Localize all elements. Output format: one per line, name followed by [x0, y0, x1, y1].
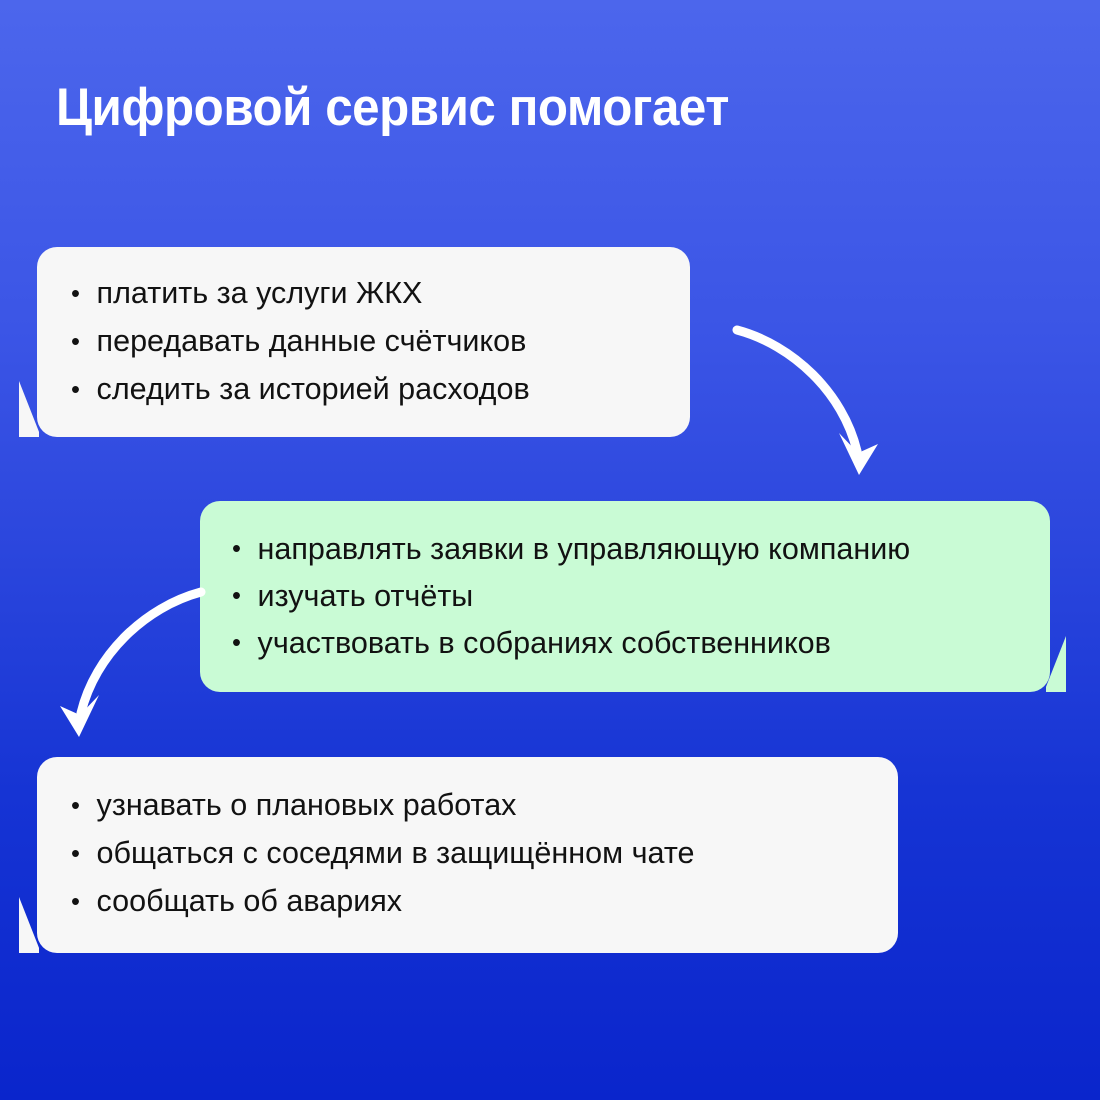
speech-bubble-1: платить за услуги ЖКХ передавать данные …: [37, 247, 690, 437]
bubble-3-list: узнавать о плановых работах общаться с с…: [67, 781, 868, 925]
list-item: узнавать о плановых работах: [67, 781, 856, 829]
slide-canvas: Цифровой сервис помогает платить за услу…: [0, 0, 1100, 1100]
list-item: участвовать в собраниях собственников: [228, 619, 1010, 666]
list-item: общаться с соседями в защищённом чате: [67, 829, 856, 877]
curved-arrow-down-right-icon: [715, 305, 915, 505]
list-item: следить за историей расходов: [67, 365, 651, 413]
bubble-tail-left-icon: [19, 381, 39, 437]
list-item: платить за услуги ЖКХ: [67, 269, 651, 317]
list-item: направлять заявки в управляющую компанию: [228, 525, 1010, 572]
list-item: сообщать об авариях: [67, 877, 856, 925]
bubble-tail-left-icon: [19, 897, 39, 953]
list-item: изучать отчёты: [228, 572, 1010, 619]
page-title: Цифровой сервис помогает: [56, 77, 729, 139]
speech-bubble-2: направлять заявки в управляющую компанию…: [200, 501, 1050, 692]
bubble-2-list: направлять заявки в управляющую компанию…: [228, 525, 1022, 666]
speech-bubble-3: узнавать о плановых работах общаться с с…: [37, 757, 898, 953]
bubble-1-list: платить за услуги ЖКХ передавать данные …: [67, 269, 660, 413]
list-item: передавать данные счётчиков: [67, 317, 651, 365]
bubble-tail-right-icon: [1046, 636, 1068, 692]
